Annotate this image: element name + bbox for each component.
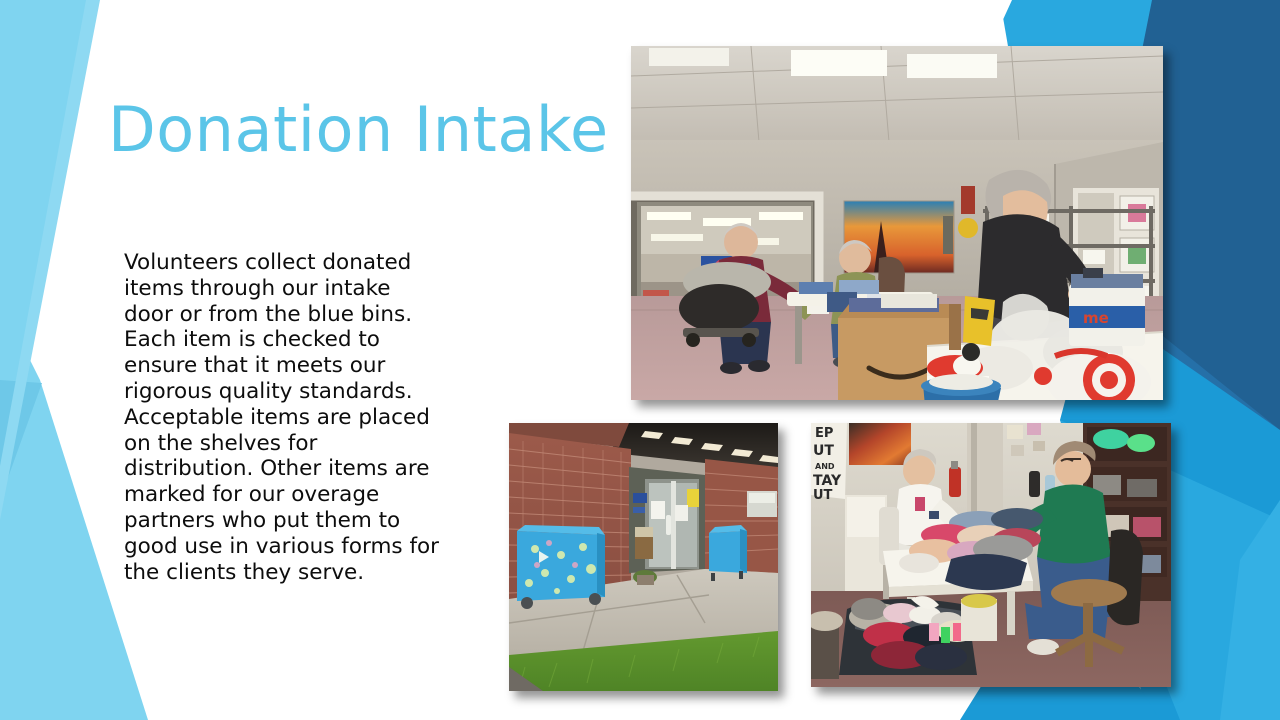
presentation-slide: Donation Intake Volunteers collect donat…: [0, 0, 1280, 720]
svg-text:UT: UT: [813, 443, 834, 459]
meijer-tote: me: [1069, 268, 1145, 346]
bagged-donations: [679, 262, 771, 347]
photo-donation-bins: [509, 423, 778, 691]
svg-text:AND: AND: [815, 462, 835, 471]
right-wedge-azure-sliver: [1220, 500, 1280, 720]
svg-text:EP: EP: [815, 426, 833, 441]
svg-text:TAY: TAY: [813, 473, 842, 489]
photo-intake-room: me: [631, 46, 1163, 400]
page-title: Donation Intake: [108, 96, 609, 164]
photo-sorting-table: EP UT AND TAY UT: [811, 423, 1171, 687]
left-ribbon-sliver: [0, 0, 100, 520]
left-ribbon-upper: [0, 0, 92, 470]
left-ribbon-overlap: [0, 380, 42, 500]
keep-out-sign: EP UT AND TAY UT: [811, 423, 847, 503]
donation-bin-large: [517, 525, 605, 609]
svg-text:UT: UT: [813, 488, 833, 503]
svg-text:me: me: [1083, 309, 1109, 327]
body-paragraph: Volunteers collect donated items through…: [124, 250, 446, 585]
